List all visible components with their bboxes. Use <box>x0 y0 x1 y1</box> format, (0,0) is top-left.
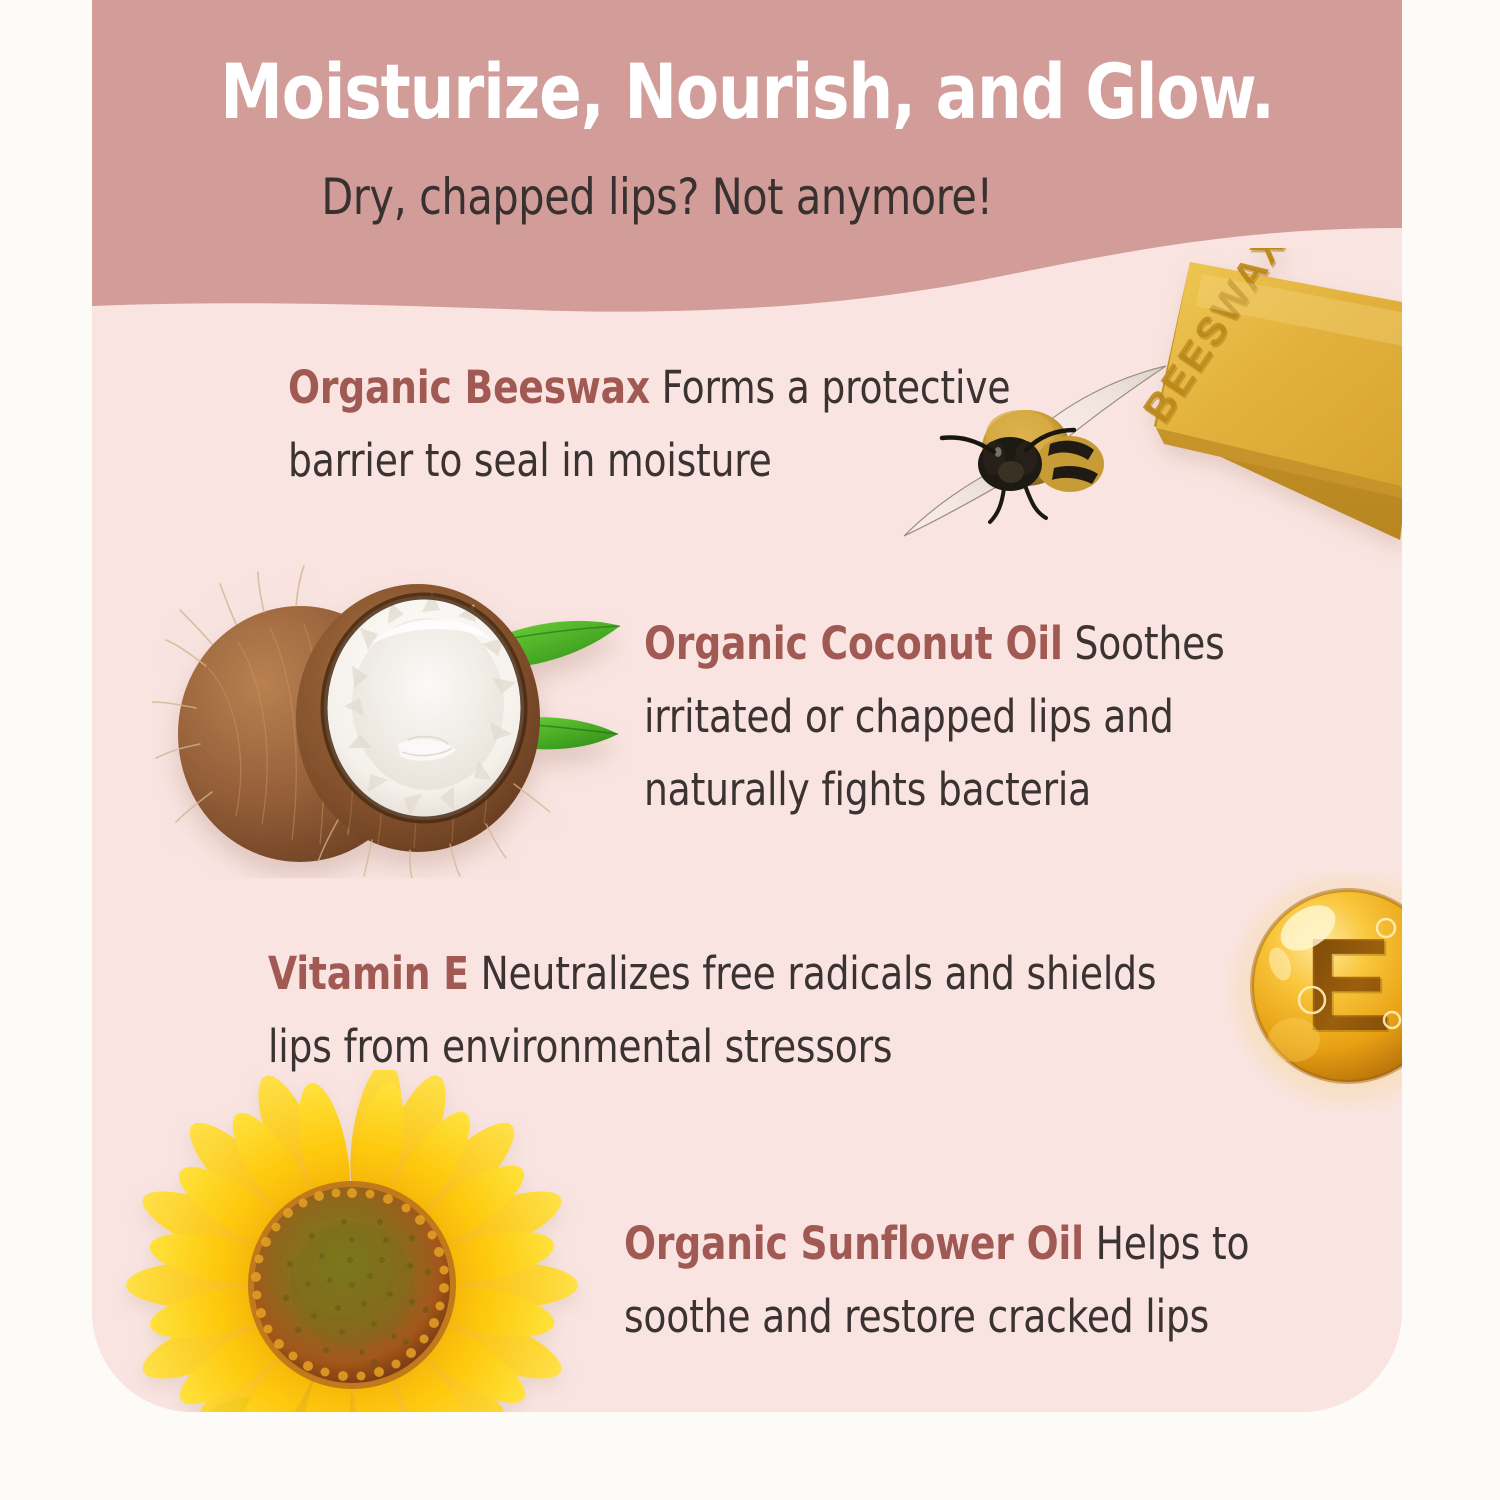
infographic-canvas: Moisturize, Nourish, and Glow. Dry, chap… <box>0 0 1500 1500</box>
page-title: Moisturize, Nourish, and Glow. <box>144 52 1349 132</box>
ingredient-coconut-name: Organic Coconut Oil <box>644 617 1063 670</box>
coconut-image <box>152 548 632 878</box>
ingredient-sunflower-name: Organic Sunflower Oil <box>624 1217 1084 1270</box>
product-benefits-card: Moisturize, Nourish, and Glow. Dry, chap… <box>92 0 1402 1412</box>
ingredient-coconut-text: Organic Coconut Oil Soothes irritated or… <box>644 608 1332 827</box>
sunflower-image <box>112 1070 592 1412</box>
ingredient-beeswax-text: Organic Beeswax Forms a protective barri… <box>288 352 1106 498</box>
ingredient-vitamin-e-name: Vitamin E <box>268 947 469 1000</box>
ingredient-vitamin-e-text: Vitamin E Neutralizes free radicals and … <box>268 938 1161 1084</box>
ingredient-sunflower-text: Organic Sunflower Oil Helps to soothe an… <box>624 1208 1340 1354</box>
ingredient-beeswax-name: Organic Beeswax <box>288 361 650 414</box>
page-subtitle: Dry, chapped lips? Not anymore! <box>137 168 1177 226</box>
vitamin-e-droplet-image: E E <box>1224 872 1402 1122</box>
